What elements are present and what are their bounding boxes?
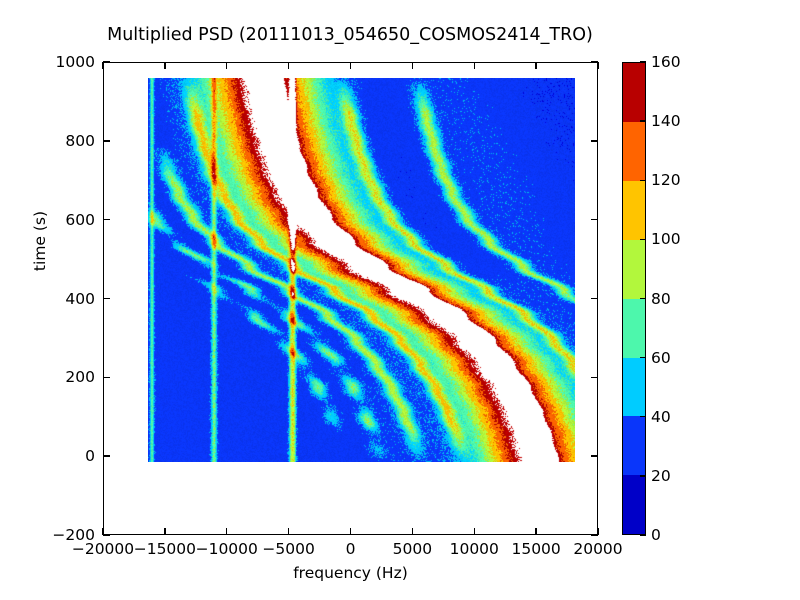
y-tick-label: 0 xyxy=(7,447,95,465)
x-tick-mark xyxy=(412,62,413,69)
y-tick-mark xyxy=(591,455,598,456)
y-tick-label: 400 xyxy=(7,290,95,308)
x-tick-label: 15000 xyxy=(511,540,560,558)
colorbar-tick-mark xyxy=(640,239,646,240)
colorbar-tick-mark xyxy=(640,475,646,476)
colorbar-tick-label: 60 xyxy=(651,349,671,367)
colorbar-tick-mark xyxy=(640,298,646,299)
colorbar-tick-label: 100 xyxy=(651,230,681,248)
y-tick-label: −200 xyxy=(7,526,95,544)
x-tick-mark xyxy=(288,528,289,535)
x-tick-label: −10000 xyxy=(196,540,258,558)
y-tick-mark xyxy=(591,377,598,378)
colorbar-tick-mark xyxy=(640,416,646,417)
colorbar-band xyxy=(623,122,645,181)
x-tick-label: 20000 xyxy=(573,540,622,558)
colorbar-tick-mark xyxy=(640,357,646,358)
y-tick-label: 1000 xyxy=(7,53,95,71)
y-tick-mark xyxy=(591,534,598,535)
colorbar-band xyxy=(623,63,645,122)
x-tick-label: 5000 xyxy=(393,540,432,558)
colorbar-tick-mark xyxy=(640,120,646,121)
x-tick-mark xyxy=(474,62,475,69)
colorbar-tick-label: 40 xyxy=(651,408,671,426)
x-tick-mark xyxy=(412,528,413,535)
x-tick-label: −15000 xyxy=(134,540,196,558)
y-tick-mark xyxy=(103,534,110,535)
colorbar-tick-label: 80 xyxy=(651,290,671,308)
colorbar-band xyxy=(623,475,645,534)
y-tick-label: 200 xyxy=(7,368,95,386)
x-tick-mark xyxy=(535,528,536,535)
x-tick-mark xyxy=(226,528,227,535)
y-tick-mark xyxy=(591,298,598,299)
colorbar-tick-mark xyxy=(640,61,646,62)
colorbar-band xyxy=(623,239,645,298)
x-tick-label: 0 xyxy=(346,540,356,558)
x-tick-mark xyxy=(350,62,351,69)
colorbar-band xyxy=(623,416,645,475)
y-tick-mark xyxy=(103,377,110,378)
y-tick-mark xyxy=(591,61,598,62)
spectrogram-image xyxy=(148,78,575,462)
colorbar-tick-mark xyxy=(640,534,646,535)
colorbar-tick-label: 160 xyxy=(651,53,681,71)
x-tick-mark xyxy=(102,62,103,69)
y-axis-label: time (s) xyxy=(31,141,49,341)
y-tick-mark xyxy=(103,140,110,141)
x-axis-label: frequency (Hz) xyxy=(103,564,598,582)
y-tick-mark xyxy=(103,298,110,299)
y-tick-label: 600 xyxy=(7,211,95,229)
y-tick-mark xyxy=(103,219,110,220)
x-tick-mark xyxy=(164,62,165,69)
y-tick-mark xyxy=(591,219,598,220)
y-tick-label: 800 xyxy=(7,132,95,150)
x-tick-mark xyxy=(164,528,165,535)
x-tick-label: 10000 xyxy=(450,540,499,558)
colorbar-tick-mark xyxy=(640,180,646,181)
page-title: Multiplied PSD (20111013_054650_COSMOS24… xyxy=(0,25,700,45)
x-tick-mark xyxy=(350,528,351,535)
x-tick-mark xyxy=(535,62,536,69)
colorbar-tick-label: 140 xyxy=(651,112,681,130)
x-tick-mark xyxy=(226,62,227,69)
colorbar-band xyxy=(623,181,645,240)
y-tick-mark xyxy=(591,140,598,141)
figure-canvas: Multiplied PSD (20111013_054650_COSMOS24… xyxy=(0,0,800,600)
x-tick-mark xyxy=(597,62,598,69)
y-tick-mark xyxy=(103,455,110,456)
colorbar-tick-label: 120 xyxy=(651,171,681,189)
colorbar-tick-label: 0 xyxy=(651,526,661,544)
x-tick-mark xyxy=(474,528,475,535)
colorbar-tick-label: 20 xyxy=(651,467,671,485)
x-tick-label: −5000 xyxy=(262,540,314,558)
colorbar-band xyxy=(623,298,645,357)
x-tick-mark xyxy=(288,62,289,69)
y-tick-mark xyxy=(103,61,110,62)
colorbar-band xyxy=(623,357,645,416)
